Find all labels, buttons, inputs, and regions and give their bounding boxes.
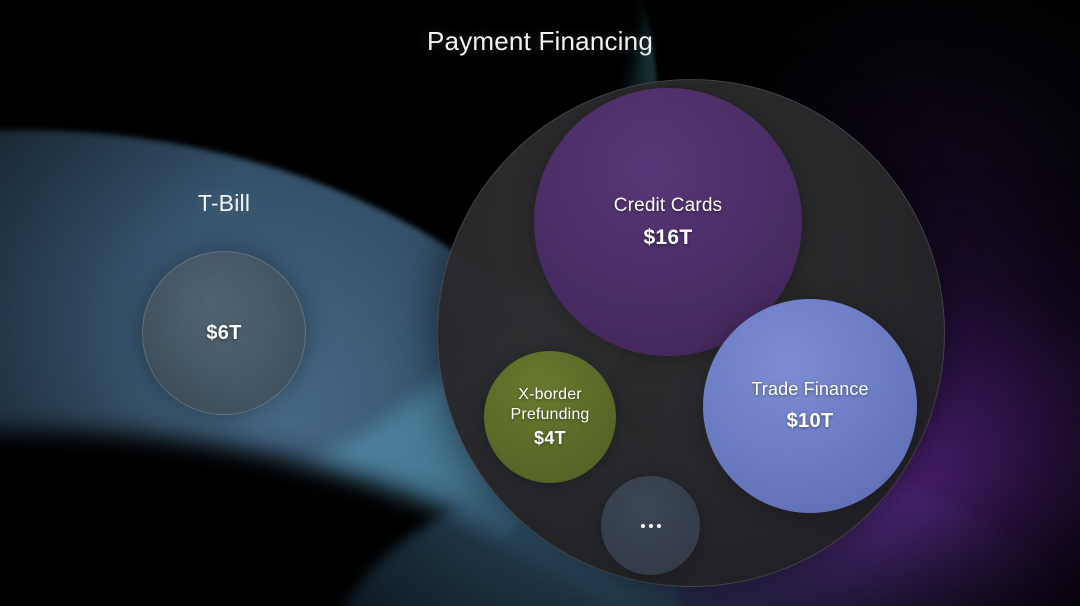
ellipsis-icon [641,524,661,528]
credit-cards-label: Credit Cards [614,194,722,217]
xborder-label-line1: X-border [518,385,581,405]
bubble-more[interactable] [601,476,700,575]
xborder-label-line2: Prefunding [511,405,590,425]
bubble-xborder-prefunding[interactable]: X-border Prefunding $4T [484,351,616,483]
tbill-value: $6T [206,322,241,345]
tbill-heading: T-Bill [142,190,306,217]
bubble-chart-canvas: Payment Financing T-Bill $6T Credit Card… [0,0,1080,606]
bubble-trade-finance[interactable]: Trade Finance $10T [703,299,917,513]
trade-finance-value: $10T [787,410,834,433]
chart-title: Payment Financing [0,26,1080,57]
bubble-tbill[interactable]: $6T [142,251,306,415]
tbill-group: T-Bill [142,190,306,217]
trade-finance-label: Trade Finance [751,379,868,401]
xborder-value: $4T [534,428,566,449]
credit-cards-value: $16T [643,226,692,250]
